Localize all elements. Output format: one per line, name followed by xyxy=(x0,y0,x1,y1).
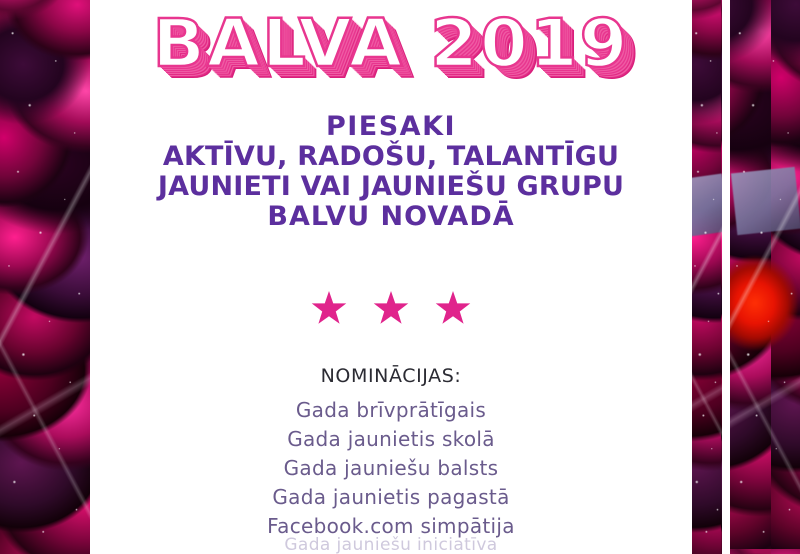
star-icon xyxy=(435,291,471,327)
nominations-block: NOMINĀCIJAS: Gada brīvprātīgais Gada jau… xyxy=(90,365,692,541)
crystal-texture-panel-right xyxy=(730,0,800,554)
star-icon xyxy=(373,291,409,327)
slate-crystal-shard xyxy=(692,173,722,236)
content-column: BALVA 2019 PIESAKI AKTĪVU, RADOŠU, TALAN… xyxy=(90,0,692,554)
list-item: Gada jaunietis pagastā xyxy=(90,483,692,512)
gutter-divider xyxy=(722,0,730,554)
cutoff-list-item: Gada jauniešu iniciatīva xyxy=(90,535,692,554)
list-item: Gada jauniešu balsts xyxy=(90,454,692,483)
headline-block: PIESAKI AKTĪVU, RADOŠU, TALANTĪGU JAUNIE… xyxy=(90,112,692,232)
star-divider xyxy=(90,291,692,327)
headline-line-1: PIESAKI xyxy=(90,112,692,142)
headline-line-2: AKTĪVU, RADOŠU, TALANTĪGU xyxy=(90,142,692,172)
crystal-texture-panel-left xyxy=(0,0,90,554)
list-item: Gada brīvprātīgais xyxy=(90,396,692,425)
slate-crystal-shard xyxy=(731,167,800,235)
nominations-heading: NOMINĀCIJAS: xyxy=(90,365,692,387)
title-block: BALVA 2019 xyxy=(90,2,692,90)
poster-canvas: BALVA 2019 PIESAKI AKTĪVU, RADOŠU, TALAN… xyxy=(0,0,800,554)
headline-line-3: JAUNIETI VAI JAUNIEŠU GRUPU xyxy=(90,172,692,202)
star-icon xyxy=(311,291,347,327)
red-crystal-highlight xyxy=(730,255,798,351)
headline-line-4: BALVU NOVADĀ xyxy=(90,202,692,232)
list-item: Gada jaunietis skolā xyxy=(90,425,692,454)
page-title: BALVA 2019 xyxy=(78,2,704,86)
